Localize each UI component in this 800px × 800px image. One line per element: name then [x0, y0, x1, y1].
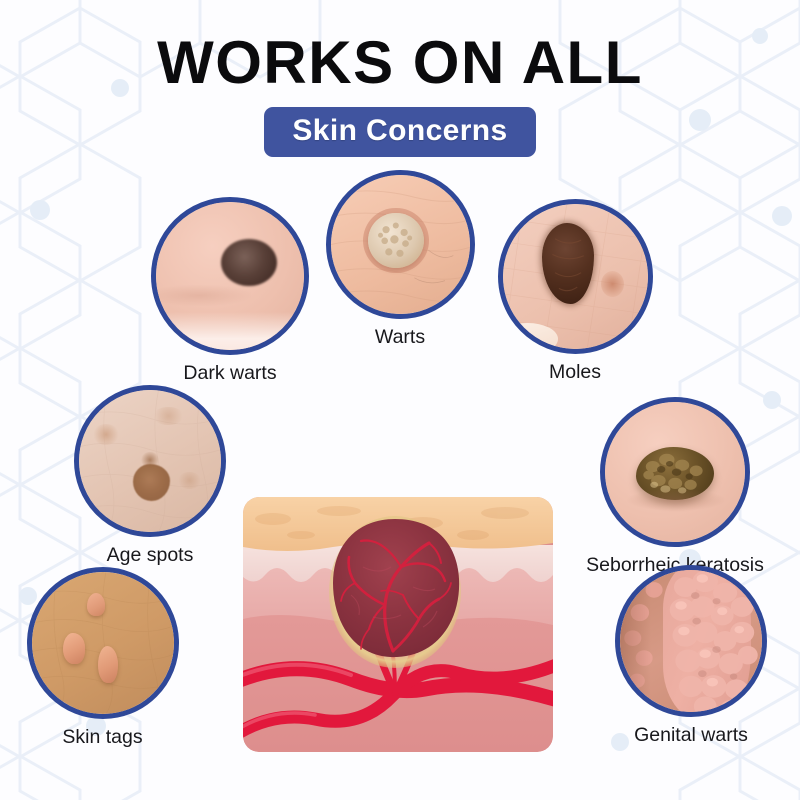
concern-item-seborrheic-keratosis[interactable]: Seborrheic keratosis [555, 397, 795, 577]
concern-item-age-spots[interactable]: Age spots [55, 385, 245, 567]
skin-concerns-badge: Skin Concerns [264, 107, 535, 157]
warts-label: Warts [315, 326, 485, 349]
age-spots-photo [74, 385, 226, 537]
moles-photo [498, 199, 653, 354]
page-title: WORKS ON ALL [0, 0, 800, 93]
concern-item-warts[interactable]: Warts [315, 170, 485, 349]
seborrheic-keratosis-photo [600, 397, 750, 547]
dark-warts-label: Dark warts [130, 362, 330, 385]
concern-item-skin-tags[interactable]: Skin tags [10, 567, 195, 749]
genital-warts-label: Genital warts [596, 724, 786, 747]
concern-item-moles[interactable]: Moles [490, 199, 660, 384]
skin-tags-photo [27, 567, 179, 719]
concern-item-genital-warts[interactable]: Genital warts [596, 565, 786, 747]
skin-tags-label: Skin tags [10, 726, 195, 749]
dark-warts-photo [151, 197, 309, 355]
warts-photo [326, 170, 475, 319]
age-spots-label: Age spots [55, 544, 245, 567]
moles-label: Moles [490, 361, 660, 384]
poster-canvas: WORKS ON ALL Skin Concerns [0, 0, 800, 800]
skin-cross-section-illustration [243, 497, 553, 752]
concern-item-dark-warts[interactable]: Dark warts [130, 197, 330, 385]
header-block: WORKS ON ALL Skin Concerns [0, 0, 800, 157]
genital-warts-photo [615, 565, 767, 717]
badge-wrapper: Skin Concerns [0, 107, 800, 157]
